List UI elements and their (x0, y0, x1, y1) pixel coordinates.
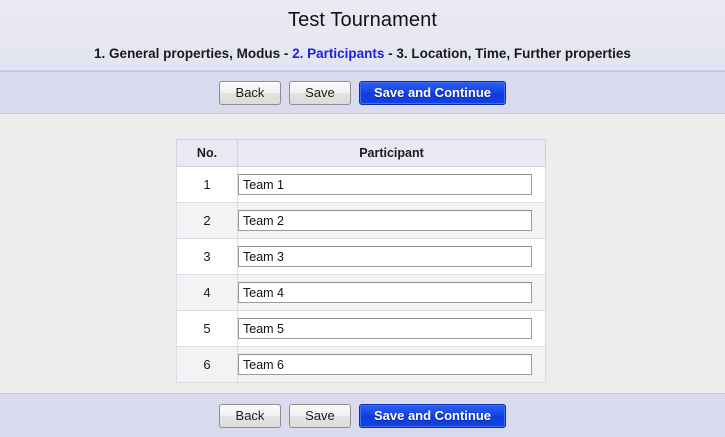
toolbar-top: Back Save Save and Continue (0, 71, 725, 114)
save-button-top[interactable]: Save (289, 81, 351, 105)
participant-input-3[interactable] (238, 246, 532, 267)
participant-cell-1 (238, 167, 546, 203)
participants-table-body: 1 2 3 (177, 167, 546, 383)
breadcrumb: 1. General properties, Modus - 2. Partic… (0, 46, 725, 61)
participant-input-6[interactable] (238, 354, 532, 375)
save-button-bottom[interactable]: Save (289, 404, 351, 428)
table-row: 1 (177, 167, 546, 203)
breadcrumb-separator-1: - (280, 46, 292, 61)
row-number-6: 6 (177, 347, 238, 383)
table-row: 6 (177, 347, 546, 383)
column-header-participant: Participant (238, 140, 546, 167)
participant-cell-6 (238, 347, 546, 383)
breadcrumb-separator-2: - (384, 46, 396, 61)
save-and-continue-button-bottom[interactable]: Save and Continue (359, 404, 506, 428)
table-row: 2 (177, 203, 546, 239)
participant-input-4[interactable] (238, 282, 532, 303)
participant-cell-4 (238, 275, 546, 311)
breadcrumb-step-2-current[interactable]: 2. Participants (292, 46, 384, 61)
participant-input-1[interactable] (238, 174, 532, 195)
row-number-1: 1 (177, 167, 238, 203)
participants-table: No. Participant 1 2 (176, 139, 546, 383)
participants-table-head: No. Participant (177, 140, 546, 167)
participant-cell-3 (238, 239, 546, 275)
participant-cell-5 (238, 311, 546, 347)
table-header-row: No. Participant (177, 140, 546, 167)
participant-input-5[interactable] (238, 318, 532, 339)
table-row: 4 (177, 275, 546, 311)
page-title: Test Tournament (0, 9, 725, 32)
column-header-no: No. (177, 140, 238, 167)
page-header: Test Tournament 1. General properties, M… (0, 0, 725, 71)
participant-cell-2 (238, 203, 546, 239)
tournament-participants-page: Test Tournament 1. General properties, M… (0, 0, 725, 437)
toolbar-bottom: Back Save Save and Continue (0, 393, 725, 437)
breadcrumb-step-1[interactable]: 1. General properties, Modus (94, 46, 280, 61)
participant-input-2[interactable] (238, 210, 532, 231)
save-and-continue-button-top[interactable]: Save and Continue (359, 81, 506, 105)
row-number-2: 2 (177, 203, 238, 239)
breadcrumb-step-3[interactable]: 3. Location, Time, Further properties (396, 46, 631, 61)
back-button-top[interactable]: Back (219, 81, 281, 105)
participants-table-wrapper: No. Participant 1 2 (176, 139, 545, 383)
row-number-3: 3 (177, 239, 238, 275)
table-row: 3 (177, 239, 546, 275)
back-button-bottom[interactable]: Back (219, 404, 281, 428)
table-row: 5 (177, 311, 546, 347)
row-number-4: 4 (177, 275, 238, 311)
row-number-5: 5 (177, 311, 238, 347)
main-content: No. Participant 1 2 (0, 114, 725, 393)
